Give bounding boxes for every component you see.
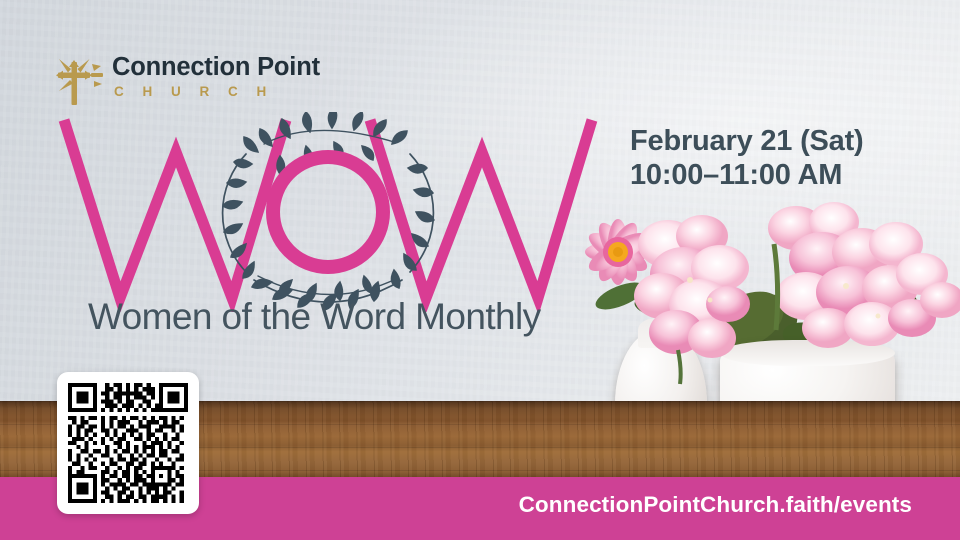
event-datetime: February 21 (Sat) 10:00–11:00 AM: [630, 124, 930, 192]
wow-letters-icon: [58, 112, 598, 312]
event-time: 10:00–11:00 AM: [630, 158, 930, 192]
qr-code-icon[interactable]: [68, 383, 188, 503]
qr-code-card[interactable]: [57, 372, 199, 514]
church-logo: Connection Point C H U R C H: [50, 48, 390, 110]
event-date: February 21 (Sat): [630, 124, 930, 158]
wow-logotype: [58, 112, 598, 312]
cross-starburst-icon: [50, 50, 104, 106]
event-title: Women of the Word Monthly: [88, 296, 541, 338]
logo-subtitle: C H U R C H: [114, 84, 274, 99]
logo-name: Connection Point: [112, 53, 320, 82]
website-url[interactable]: ConnectionPointChurch.faith/events: [519, 492, 912, 518]
event-flyer: Connection Point C H U R C H: [0, 0, 960, 540]
